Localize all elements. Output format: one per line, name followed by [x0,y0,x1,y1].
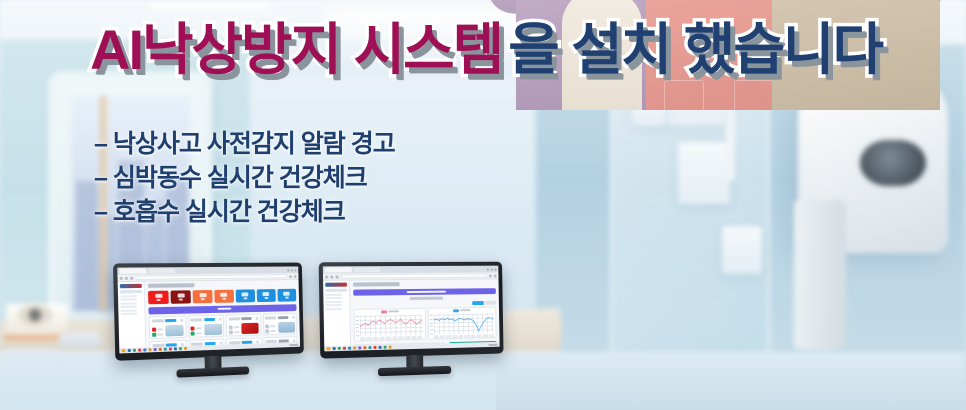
bullet-dash: – [94,198,107,226]
bed-status-icon [165,325,183,337]
headline-part-2: 을 설치 했습니다 [508,22,882,78]
taskbar-icon[interactable] [337,347,341,351]
bullet-dash: – [94,164,107,192]
taskbar-icon[interactable] [163,347,167,351]
promotional-banner: AI낙상방지 시스템을 설치 했습니다 –낙상사고 사전감지 알람 경고 –심박… [0,0,966,410]
star-icon[interactable] [289,275,292,278]
section-header-bar [148,304,296,314]
desk-object-mouse [58,332,102,348]
taskbar-icon[interactable] [183,347,187,351]
status-card-warning[interactable] [192,290,212,303]
gear-icon[interactable] [292,316,295,319]
sidebar-item[interactable] [120,309,137,311]
bullet-dash: – [94,130,107,158]
respiration-chart [427,307,496,340]
reload-icon[interactable] [130,276,133,279]
taskbar-icon[interactable] [368,346,372,350]
feature-item-1: –낙상사고 사전감지 알람 경고 [94,127,395,161]
app-logo [325,283,347,287]
url-input[interactable] [135,274,287,280]
reload-icon[interactable] [335,275,338,278]
headline-part-1: AI낙상방지 시스템 [90,22,502,78]
monitor-bezel [113,263,304,361]
primary-action-button[interactable] [472,301,484,305]
taskbar-icon[interactable] [127,349,131,353]
browser-tab[interactable] [325,267,352,272]
taskbar-icon[interactable] [383,345,387,349]
bed-status-icon [204,324,222,336]
maximize-icon[interactable] [491,268,493,270]
action-button-row [353,301,496,307]
page-subtitle [409,297,442,300]
app-page-title [148,283,195,288]
feature-item-1-label: 낙상사고 사전감지 알람 경고 [113,130,395,158]
status-card-normal[interactable] [256,289,276,302]
bed-card-row [149,313,297,339]
sidebar-section[interactable] [325,289,347,292]
feature-list: –낙상사고 사전감지 알람 경고 –심박동수 실시간 건강체크 –호흡수 실시간… [94,127,395,229]
start-icon[interactable] [326,347,330,351]
monitor-screen[interactable] [323,266,500,352]
taskbar-icon[interactable] [173,347,177,351]
minimize-icon[interactable] [487,268,489,270]
taskbar-clock [488,343,498,345]
app-sidebar[interactable] [118,282,147,349]
taskbar-icon[interactable] [342,346,346,350]
close-icon[interactable] [495,268,497,270]
url-input[interactable] [341,274,488,279]
app-page-title [353,282,400,286]
back-icon[interactable] [325,275,328,278]
status-card-warning[interactable] [214,290,234,303]
taskbar-icon[interactable] [153,348,157,352]
close-icon[interactable] [295,269,297,271]
forward-icon[interactable] [330,275,333,278]
page-banner-bar [353,288,496,296]
desk-object-paper [2,350,58,358]
sidebar-item[interactable] [120,302,137,304]
status-card-severe[interactable] [170,290,191,304]
heart-rate-chart [353,308,425,342]
taskbar-icon[interactable] [358,346,362,350]
menu-icon[interactable] [294,275,297,278]
monitor-charts-right [319,262,504,373]
sidebar-item[interactable] [120,298,137,300]
sidebar-item[interactable] [325,297,342,299]
feature-item-3: –호흡수 실시간 건강체크 [94,195,395,229]
feature-item-2: –심박동수 실시간 건강체크 [94,161,395,195]
menu-icon[interactable] [494,274,497,277]
app-logo [120,284,142,288]
taskbar-icon[interactable] [158,348,162,352]
maximize-icon[interactable] [291,269,293,271]
taskbar-icon[interactable] [373,346,377,350]
browser-tab[interactable] [149,268,176,273]
bed-card[interactable] [149,316,187,339]
taskbar-icon[interactable] [138,348,142,352]
taskbar-icon[interactable] [347,346,351,350]
sidebar-item[interactable] [326,304,343,306]
taskbar-icon[interactable] [132,348,136,352]
monitor-dashboard-left [113,263,304,376]
monitor-screen[interactable] [117,266,300,353]
taskbar-icon[interactable] [388,345,392,349]
sidebar-section[interactable] [120,290,142,293]
status-card-normal[interactable] [277,289,296,302]
back-icon[interactable] [120,276,123,279]
secondary-action-button[interactable] [485,301,496,305]
gear-icon[interactable] [218,318,221,321]
people-group [496,110,966,410]
gear-icon[interactable] [180,318,183,321]
chart-row [353,307,496,342]
star-icon[interactable] [489,274,492,277]
start-icon[interactable] [121,349,125,353]
app-main [145,280,300,347]
sidebar-item[interactable] [120,305,137,307]
app-sidebar[interactable] [323,280,351,346]
gear-icon[interactable] [255,317,258,320]
taskbar-icon[interactable] [178,347,182,351]
bed-card-alert[interactable] [226,314,261,337]
bed-status-icon [278,322,295,333]
taskbar-icon[interactable] [168,347,172,351]
headline: AI낙상방지 시스템을 설치 했습니다 [90,22,882,78]
status-card-row [148,289,296,304]
taskbar-icon[interactable] [143,348,147,352]
bed-card[interactable] [263,313,298,335]
app-body [323,279,499,346]
browser-tab[interactable] [119,268,146,273]
app-body [118,280,300,348]
forward-icon[interactable] [125,276,128,279]
sidebar-item[interactable] [326,308,343,310]
sidebar-item[interactable] [326,300,343,302]
fall-alert-icon [241,323,258,334]
sidebar-item[interactable] [121,313,138,315]
minimize-icon[interactable] [287,269,289,271]
taskbar-icon[interactable] [378,346,382,350]
feature-item-3-label: 호흡수 실시간 건강체크 [113,198,345,226]
bed-card[interactable] [188,315,225,338]
ceiling-light-secondary [149,2,272,10]
desk-object-disc [18,304,52,326]
app-main [350,279,500,345]
status-card-critical[interactable] [148,291,169,305]
sidebar-item[interactable] [325,293,342,295]
taskbar-clock [289,343,298,345]
taskbar-icon[interactable] [353,346,357,350]
browser-tab[interactable] [354,267,380,272]
status-card-normal[interactable] [235,289,255,302]
taskbar-icon[interactable] [148,348,152,352]
feature-item-2-label: 심박동수 실시간 건강체크 [113,164,367,192]
taskbar-icon[interactable] [363,346,367,350]
monitor-bezel [319,262,504,359]
taskbar-icon[interactable] [332,347,336,351]
sidebar-item[interactable] [120,295,137,297]
